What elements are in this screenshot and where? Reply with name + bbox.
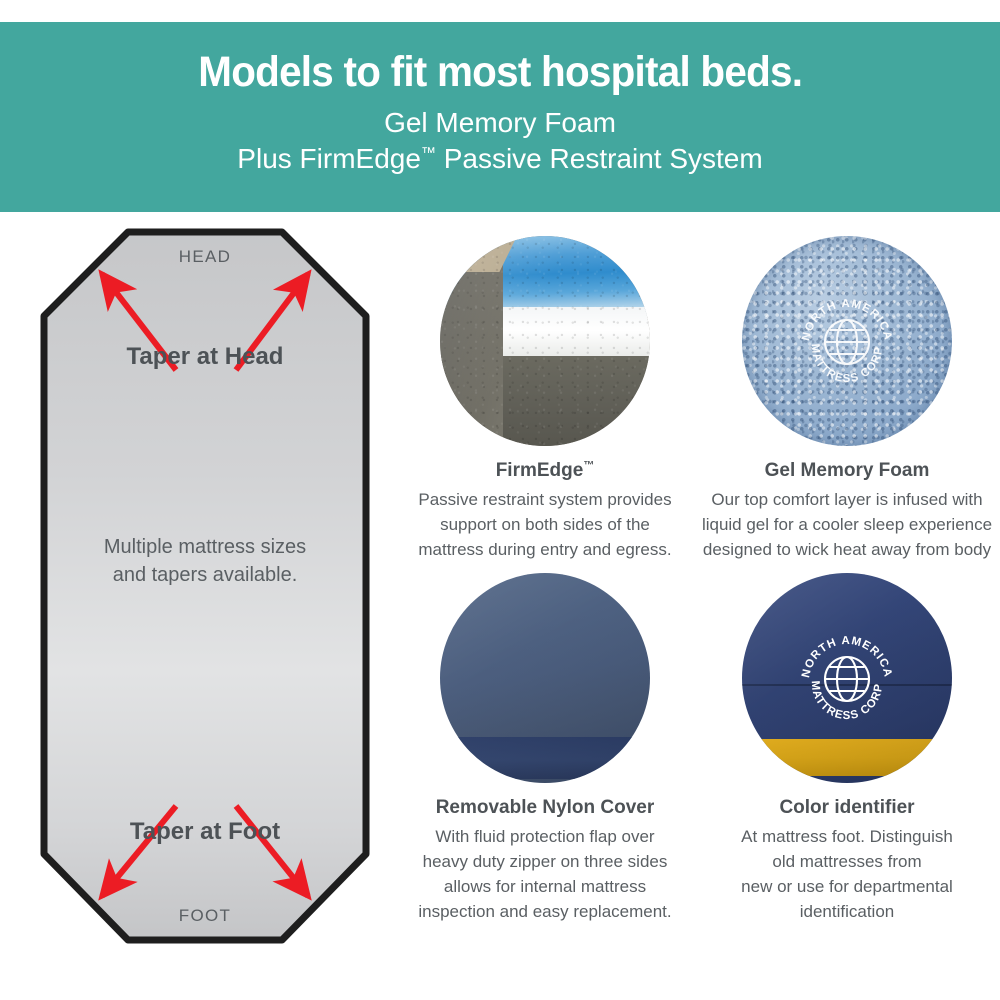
feature-body: Passive restraint system provides suppor… [418, 488, 671, 563]
feature-firmedge: FirmEdge™ Passive restraint system provi… [396, 236, 694, 563]
feature-body: At mattress foot. Distinguish old mattre… [741, 825, 953, 925]
feature-body-line: At mattress foot. Distinguish [741, 825, 953, 850]
page-title: Models to fit most hospital beds. [198, 50, 802, 95]
nylon-cover-swatch [440, 573, 650, 783]
swatch-gloss-overlay [742, 573, 952, 783]
header-subtitle-line-2-suffix: Passive Restraint System [436, 143, 763, 174]
feature-title-text: Color identifier [779, 797, 914, 818]
feature-body-line: inspection and easy replacement. [418, 900, 671, 925]
feature-body-line: old mattresses from [741, 850, 953, 875]
feature-body: Our top comfort layer is infused with li… [702, 488, 992, 563]
feature-gel-memory-foam: NORTH AMERICA MATTRESS CORP. Gel Memory … [698, 236, 996, 563]
feature-body: With fluid protection flap over heavy du… [418, 825, 671, 925]
mattress-shape-svg [40, 228, 370, 953]
feature-grid: FirmEdge™ Passive restraint system provi… [396, 236, 996, 924]
feature-title-text: FirmEdge [496, 460, 584, 481]
feature-body-line: identification [741, 900, 953, 925]
header-subtitle-line-1: Gel Memory Foam [237, 105, 762, 141]
header-banner: Models to fit most hospital beds. Gel Me… [0, 22, 1000, 212]
feature-removable-nylon-cover: Removable Nylon Cover With fluid protect… [396, 573, 694, 925]
feature-body-line: designed to wick heat away from body [702, 538, 992, 563]
feature-body-line: mattress during entry and egress. [418, 538, 671, 563]
feature-color-identifier: NORTH AMERICA MATTRESS CORP. Color ident… [698, 573, 996, 925]
header-subtitle: Gel Memory Foam Plus FirmEdge™ Passive R… [237, 105, 762, 177]
feature-title: Gel Memory Foam [765, 460, 930, 483]
feature-body-line: new or use for departmental [741, 875, 953, 900]
feature-title-text: Removable Nylon Cover [436, 797, 655, 818]
feature-body-line: Passive restraint system provides [418, 488, 671, 513]
color-identifier-swatch: NORTH AMERICA MATTRESS CORP. [742, 573, 952, 783]
feature-title: FirmEdge™ [496, 460, 595, 483]
header-subtitle-line-2: Plus FirmEdge™ Passive Restraint System [237, 141, 762, 177]
feature-body-line: liquid gel for a cooler sleep experience [702, 513, 992, 538]
feature-body-line: allows for internal mattress [418, 875, 671, 900]
firmedge-cutaway-photo [440, 236, 650, 446]
gel-memory-foam-swatch: NORTH AMERICA MATTRESS CORP. [742, 236, 952, 446]
feature-title: Removable Nylon Cover [436, 797, 655, 820]
feature-title-text: Gel Memory Foam [765, 460, 930, 481]
feature-body-line: heavy duty zipper on three sides [418, 850, 671, 875]
feature-title: Color identifier [779, 797, 914, 820]
feature-body-line: support on both sides of the [418, 513, 671, 538]
mattress-diagram: HEAD Taper at Head Multiple mattress siz… [40, 228, 370, 953]
swatch-inner-shadow [742, 236, 952, 446]
trademark-icon: ™ [583, 460, 594, 472]
swatch-gloss-overlay [440, 573, 650, 783]
mattress-outline [44, 232, 366, 940]
photo-gloss-overlay [440, 236, 650, 446]
header-subtitle-line-2-text: Plus FirmEdge [237, 143, 421, 174]
infographic-page: Models to fit most hospital beds. Gel Me… [0, 0, 1000, 1000]
feature-body-line: Our top comfort layer is infused with [702, 488, 992, 513]
feature-body-line: With fluid protection flap over [418, 825, 671, 850]
trademark-icon: ™ [421, 145, 436, 162]
